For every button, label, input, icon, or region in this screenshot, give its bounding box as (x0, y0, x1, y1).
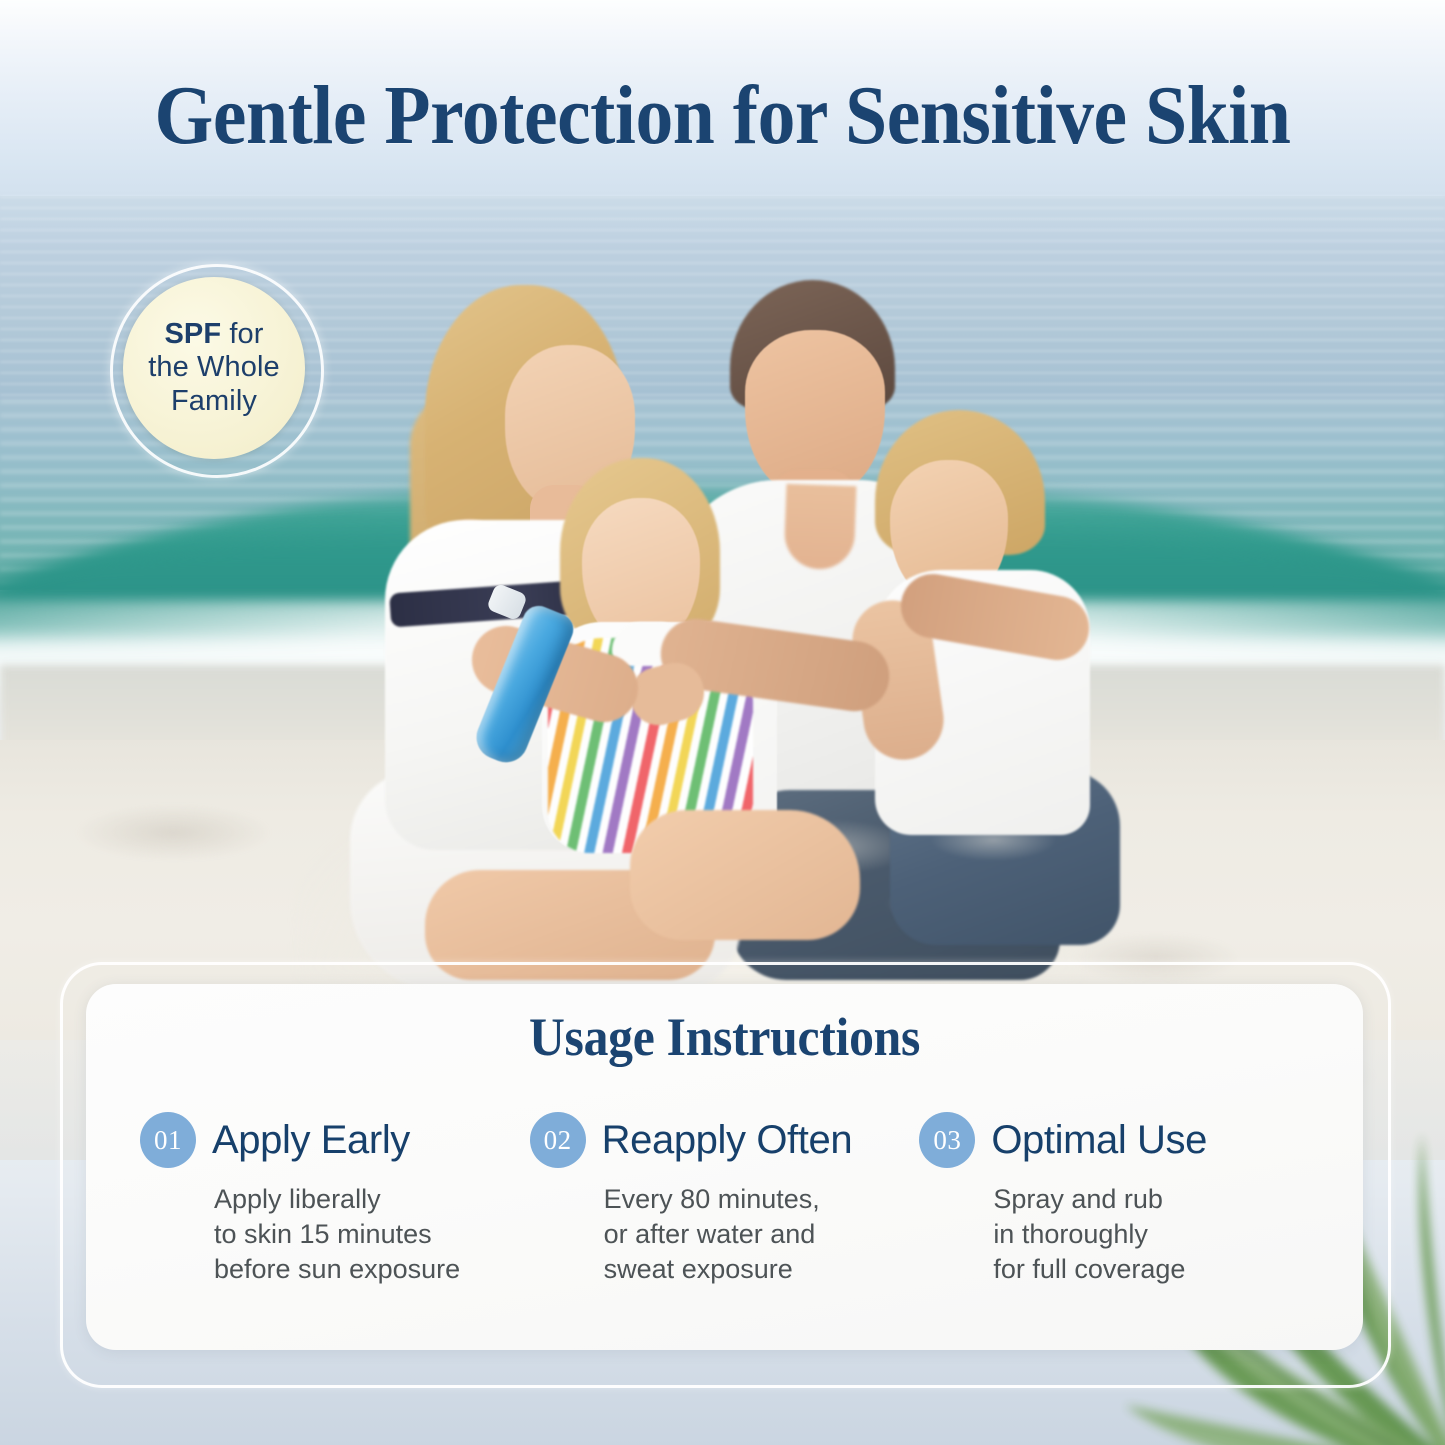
step-body: Spray and rub in thoroughly for full cov… (993, 1182, 1291, 1287)
spf-badge-disc: SPF for the Whole Family (123, 277, 305, 459)
step-header: 02 Reapply Often (530, 1112, 902, 1168)
instructions-panel: Usage Instructions 01 Apply Early Apply … (86, 984, 1363, 1350)
step-header: 01 Apply Early (140, 1112, 512, 1168)
girl-legs (630, 810, 860, 940)
spf-badge-emphasis: SPF (164, 318, 221, 350)
step-number-badge: 01 (140, 1112, 196, 1168)
step-number-badge: 03 (919, 1112, 975, 1168)
page-title: Gentle Protection for Sensitive Skin (72, 74, 1373, 158)
step-title: Apply Early (212, 1120, 410, 1160)
poster-root: Gentle Protection for Sensitive Skin SPF… (0, 0, 1445, 1445)
step-title: Optimal Use (991, 1120, 1207, 1160)
step-body: Every 80 minutes, or after water and swe… (604, 1182, 902, 1287)
panel-title: Usage Instructions (137, 1006, 1312, 1068)
step-title: Reapply Often (602, 1120, 853, 1160)
father-vneck (784, 484, 857, 570)
step-number-badge: 02 (530, 1112, 586, 1168)
steps-row: 01 Apply Early Apply liberally to skin 1… (86, 1112, 1363, 1287)
step-item: 03 Optimal Use Spray and rub in thorough… (919, 1112, 1309, 1287)
family-group (330, 270, 1120, 890)
step-body: Apply liberally to skin 15 minutes befor… (214, 1182, 512, 1287)
step-header: 03 Optimal Use (919, 1112, 1291, 1168)
spf-badge-text: SPF for the Whole Family (148, 318, 279, 419)
step-item: 02 Reapply Often Every 80 minutes, or af… (530, 1112, 920, 1287)
step-item: 01 Apply Early Apply liberally to skin 1… (140, 1112, 530, 1287)
spf-badge: SPF for the Whole Family (110, 264, 322, 476)
